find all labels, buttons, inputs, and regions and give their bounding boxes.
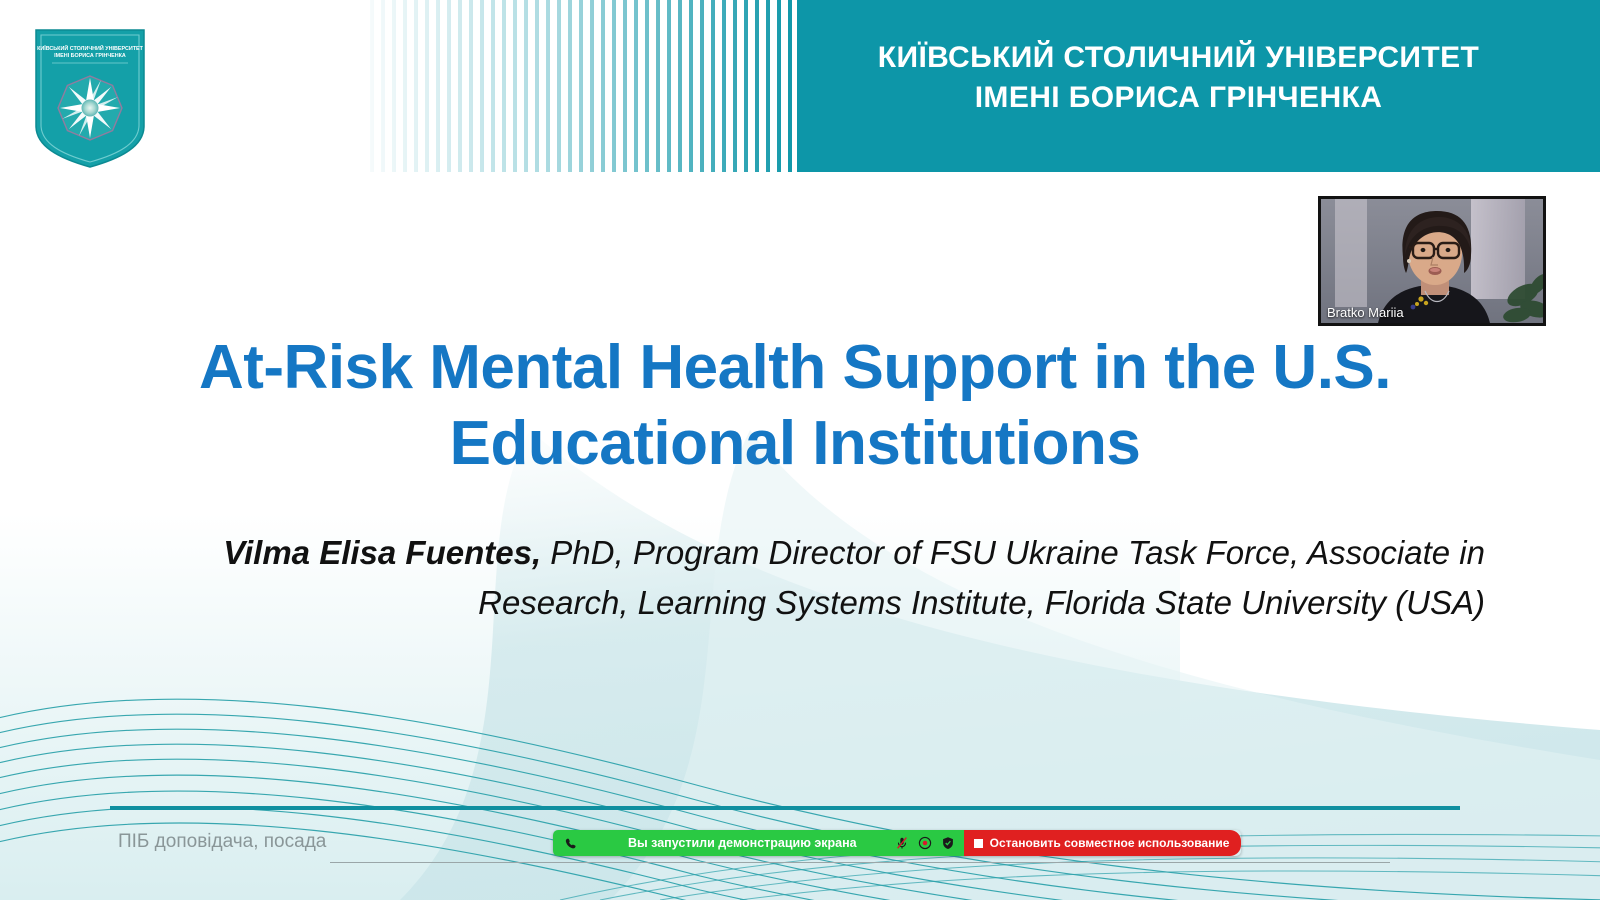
university-name-line2: ІМЕНІ БОРИСА ГРІНЧЕНКА	[797, 78, 1560, 118]
phone-icon[interactable]	[563, 836, 578, 851]
presentation-slide: КИЇВСЬКИЙ СТОЛИЧНИЙ УНІВЕРСИТЕТ ІМЕНІ БО…	[0, 0, 1600, 900]
header-teal-band: КИЇВСЬКИЙ СТОЛИЧНИЙ УНІВЕРСИТЕТ ІМЕНІ БО…	[797, 0, 1600, 172]
footer-underline	[330, 862, 1390, 863]
webcam-participant-name: Bratko Mariia	[1327, 305, 1404, 320]
zoom-screenshare-toolbar[interactable]: Вы запустили демонстрацию экрана	[553, 830, 1241, 856]
presenter-affiliation: PhD, Program Director of FSU Ukraine Tas…	[478, 534, 1485, 621]
footer-divider-rule	[110, 806, 1460, 810]
header-stripe-pattern	[370, 0, 800, 172]
microphone-muted-icon[interactable]	[895, 836, 910, 851]
presenter-credentials: Vilma Elisa Fuentes, PhD, Program Direct…	[215, 528, 1485, 628]
university-name: КИЇВСЬКИЙ СТОЛИЧНИЙ УНІВЕРСИТЕТ ІМЕНІ БО…	[797, 38, 1560, 118]
university-name-line1: КИЇВСЬКИЙ СТОЛИЧНИЙ УНІВЕРСИТЕТ	[797, 38, 1560, 78]
page-title: At-Risk Mental Health Support in the U.S…	[55, 330, 1535, 481]
record-icon[interactable]	[918, 836, 933, 851]
stop-square-icon	[974, 839, 983, 848]
shield-icon[interactable]	[941, 836, 956, 851]
presenter-name: Vilma Elisa Fuentes,	[223, 534, 541, 571]
stop-sharing-label: Остановить совместное использование	[990, 836, 1230, 850]
slide-title-block: At-Risk Mental Health Support in the U.S…	[55, 330, 1535, 481]
webcam-video-tile[interactable]: Bratko Mariia	[1318, 196, 1546, 326]
slide-subtitle-block: Vilma Elisa Fuentes, PhD, Program Direct…	[215, 528, 1485, 628]
slide-header: КИЇВСЬКИЙ СТОЛИЧНИЙ УНІВЕРСИТЕТ ІМЕНІ БО…	[0, 0, 1600, 172]
screenshare-status-group: Вы запустили демонстрацию экрана	[553, 830, 964, 856]
footer-presenter-placeholder: ПІБ доповідача, посада	[118, 831, 326, 853]
stop-sharing-button[interactable]: Остановить совместное использование	[964, 830, 1242, 856]
university-shield-logo: КИЇВСЬКИЙ СТОЛИЧНИЙ УНІВЕРСИТЕТ ІМЕНІ БО…	[30, 26, 150, 171]
logo-text-line1: КИЇВСЬКИЙ СТОЛИЧНИЙ УНІВЕРСИТЕТ	[37, 44, 144, 52]
screenshare-status-text: Вы запустили демонстрацию экрана	[586, 836, 887, 850]
logo-text-line2: ІМЕНІ БОРИСА ГРІНЧЕНКА	[54, 53, 126, 59]
